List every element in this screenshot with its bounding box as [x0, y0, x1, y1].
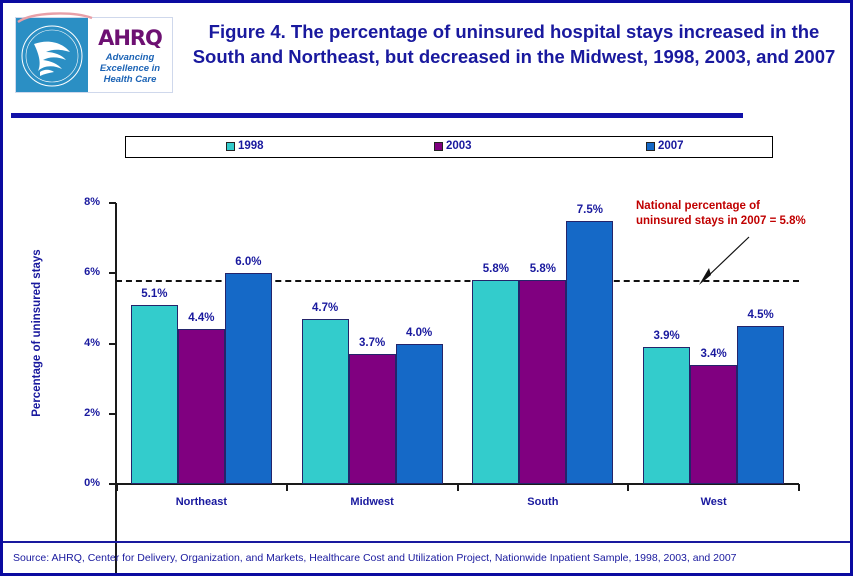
x-axis-tick — [286, 484, 288, 491]
source-note: Source: AHRQ, Center for Delivery, Organ… — [13, 552, 843, 564]
x-axis-label-west: West — [628, 496, 799, 508]
ahrq-swoosh-icon — [16, 11, 94, 23]
legend-label: 2003 — [446, 140, 472, 152]
bar-value-label: 3.7% — [343, 337, 402, 349]
ahrq-tagline-line2: Excellence in — [100, 63, 160, 74]
bar-south-2003 — [519, 280, 566, 484]
y-axis-tick — [109, 343, 116, 345]
legend-item-2003: 2003 — [434, 140, 472, 152]
y-axis-title: Percentage of uninsured stays — [31, 233, 43, 433]
bar-northeast-2003 — [178, 329, 225, 484]
y-axis-tick-label: 0% — [58, 477, 100, 489]
x-axis-label-midwest: Midwest — [287, 496, 458, 508]
ahrq-logo: AHRQ Advancing Excellence in Health Care — [15, 17, 173, 93]
y-axis-tick-label: 4% — [58, 337, 100, 349]
legend-swatch-icon — [226, 142, 235, 151]
y-axis-tick — [109, 483, 116, 485]
bar-south-1998 — [472, 280, 519, 484]
x-axis-tick — [116, 484, 118, 491]
figure-page: AHRQ Advancing Excellence in Health Care… — [0, 0, 853, 576]
x-axis-label-south: South — [458, 496, 629, 508]
x-axis-tick — [627, 484, 629, 491]
bar-midwest-2007 — [396, 344, 443, 485]
ahrq-tagline: Advancing Excellence in Health Care — [100, 52, 160, 85]
legend-item-1998: 1998 — [226, 140, 264, 152]
hhs-seal-icon — [16, 18, 88, 92]
figure-header: AHRQ Advancing Excellence in Health Care… — [3, 3, 850, 107]
x-axis-tick — [457, 484, 459, 491]
annotation-line2: uninsured stays in 2007 = 5.8% — [636, 214, 851, 229]
bar-midwest-1998 — [302, 319, 349, 484]
bar-chart: Percentage of uninsured stays National p… — [3, 163, 850, 523]
source-divider — [3, 541, 850, 543]
x-axis-tick — [798, 484, 800, 491]
legend-swatch-icon — [646, 142, 655, 151]
page-title: Figure 4. The percentage of uninsured ho… — [189, 19, 839, 69]
ahrq-tagline-line1: Advancing — [100, 52, 160, 63]
bar-value-label: 4.0% — [390, 327, 449, 339]
hhs-eagle-icon — [20, 22, 84, 90]
annotation-line1: National percentage of — [636, 199, 851, 214]
bar-value-label: 4.7% — [296, 302, 355, 314]
legend-item-2007: 2007 — [646, 140, 684, 152]
legend-label: 1998 — [238, 140, 264, 152]
bar-value-label: 4.5% — [731, 309, 790, 321]
reference-line — [116, 280, 799, 282]
bar-south-2007 — [566, 221, 613, 484]
y-axis-tick — [109, 202, 116, 204]
bar-value-label: 5.8% — [513, 263, 572, 275]
bar-value-label: 5.1% — [125, 288, 184, 300]
bar-midwest-2003 — [349, 354, 396, 484]
bar-northeast-1998 — [131, 305, 178, 484]
header-divider — [11, 113, 743, 118]
bar-northeast-2007 — [225, 273, 272, 484]
ahrq-acronym: AHRQ — [98, 28, 162, 49]
bar-west-2007 — [737, 326, 784, 484]
bar-value-label: 4.4% — [172, 312, 231, 324]
legend-swatch-icon — [434, 142, 443, 151]
bar-west-2003 — [690, 365, 737, 484]
y-axis-tick-label: 2% — [58, 407, 100, 419]
legend-label: 2007 — [658, 140, 684, 152]
chart-legend: 199820032007 — [125, 136, 773, 158]
reference-line-annotation: National percentage of uninsured stays i… — [636, 199, 851, 229]
ahrq-wordmark: AHRQ Advancing Excellence in Health Care — [88, 18, 172, 92]
bar-value-label: 6.0% — [219, 256, 278, 268]
y-axis-tick-label: 6% — [58, 266, 100, 278]
bar-west-1998 — [643, 347, 690, 484]
bar-value-label: 7.5% — [560, 204, 619, 216]
y-axis-tick — [109, 272, 116, 274]
bar-value-label: 3.9% — [637, 330, 696, 342]
bar-value-label: 3.4% — [684, 348, 743, 360]
y-axis-tick-label: 8% — [58, 196, 100, 208]
y-axis-tick — [109, 413, 116, 415]
x-axis-label-northeast: Northeast — [116, 496, 287, 508]
ahrq-tagline-line3: Health Care — [100, 74, 160, 85]
